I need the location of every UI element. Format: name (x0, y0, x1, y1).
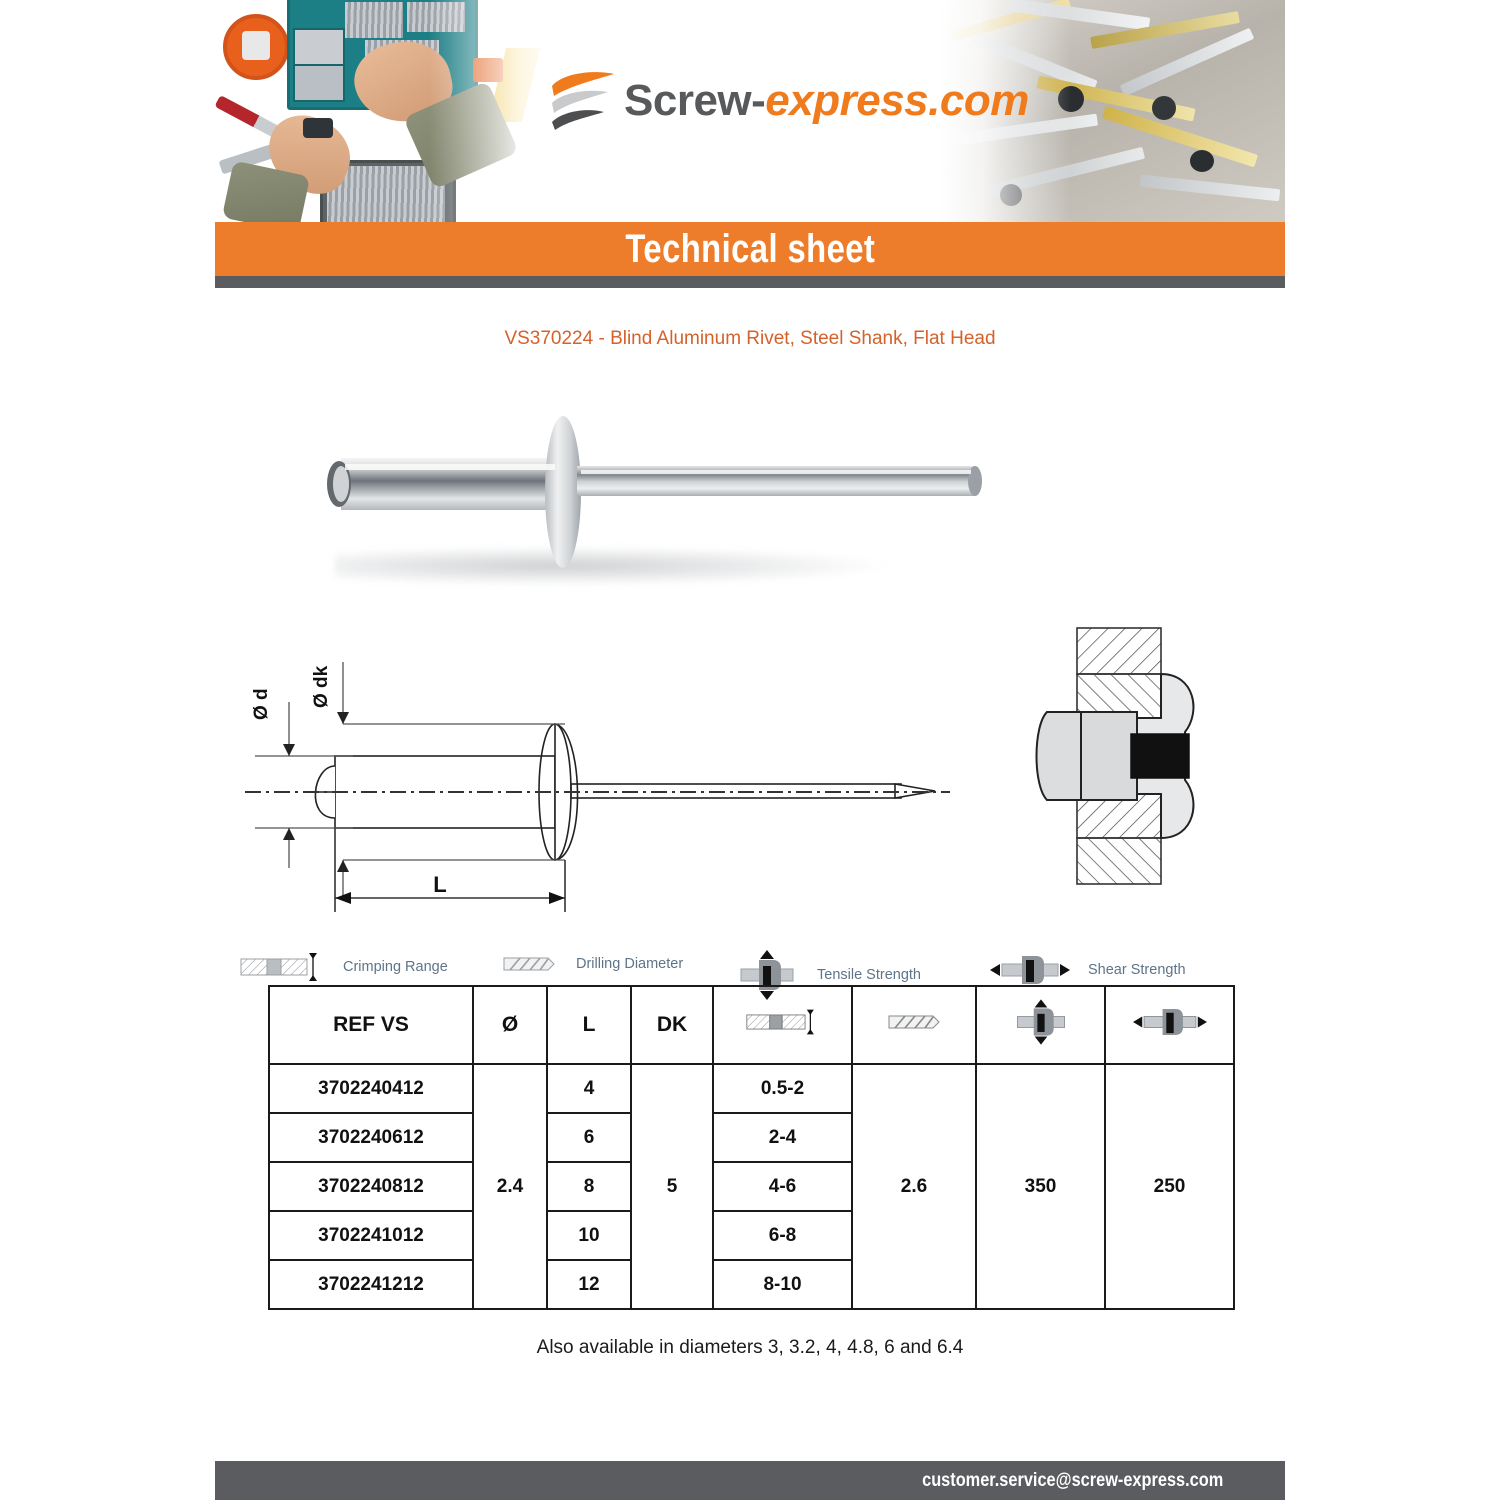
cell-ref: 3702241212 (269, 1260, 473, 1309)
col-header-drilling (852, 986, 976, 1064)
brand-logo: Screw-express.com (548, 70, 1029, 132)
cell-length: 10 (547, 1211, 631, 1260)
technical-sheet-page: Screw-express.com Technical sheet VS3702… (0, 0, 1500, 1500)
logo-swoosh-icon (548, 70, 618, 132)
footer-email[interactable]: customer.service@screw-express.com (922, 1470, 1285, 1492)
legend-label-drilling-diameter: Drilling Diameter (576, 956, 683, 972)
logo-text-accent: express.com (765, 76, 1029, 125)
cell-crimping: 6-8 (713, 1211, 852, 1260)
legend-label-crimping-range: Crimping Range (343, 959, 448, 975)
product-title: VS370224 - Blind Aluminum Rivet, Steel S… (215, 328, 1285, 350)
blind-rivet-image (305, 414, 1065, 574)
rivet-section-drawing (1035, 616, 1265, 896)
cell-diameter: 2.4 (473, 1064, 547, 1309)
label-length-l: L (433, 872, 446, 897)
table-row: 3702240412 2.4 4 5 0.5-2 2.6 350 250 (269, 1064, 1234, 1113)
label-diameter-d: Ø d (251, 688, 272, 720)
legend-label-tensile-strength: Tensile Strength (817, 967, 921, 983)
label-diameter-dk: Ø dk (311, 665, 332, 708)
drilling-diameter-icon (500, 950, 558, 978)
cell-length: 12 (547, 1260, 631, 1309)
cell-shear: 250 (1105, 1064, 1234, 1309)
legend-item-shear-strength: Shear Strength (990, 950, 1186, 990)
cell-drilling: 2.6 (852, 1064, 976, 1309)
cell-length: 8 (547, 1162, 631, 1211)
workshop-photo (215, 0, 560, 222)
tensile-strength-icon (1012, 998, 1070, 1046)
cell-dk: 5 (631, 1064, 713, 1309)
col-header-dk: DK (631, 986, 713, 1064)
logo-wordmark: Screw-express.com (624, 76, 1029, 126)
cell-length: 6 (547, 1113, 631, 1162)
logo-text-primary: Screw- (624, 76, 765, 125)
product-photo (215, 366, 1285, 616)
sheet-content: Screw-express.com Technical sheet VS3702… (215, 0, 1285, 1500)
page-footer: customer.service@screw-express.com (215, 1461, 1285, 1500)
cell-crimping: 8-10 (713, 1260, 852, 1309)
crimping-range-icon (740, 1007, 826, 1037)
col-header-ref: REF VS (269, 986, 473, 1064)
cell-crimping: 0.5-2 (713, 1064, 852, 1113)
col-header-shear (1105, 986, 1234, 1064)
col-header-crimping (713, 986, 852, 1064)
cell-tensile: 350 (976, 1064, 1105, 1309)
banner-gray-strip (215, 276, 1285, 288)
cell-ref: 3702240812 (269, 1162, 473, 1211)
spec-table-wrap: REF VS Ø L DK (268, 985, 1218, 1310)
rivet-dimension-drawing: Ø d Ø dk L (235, 616, 995, 926)
legend-item-drilling-diameter: Drilling Diameter (500, 950, 683, 978)
legend-label-shear-strength: Shear Strength (1088, 962, 1186, 978)
col-header-length: L (547, 986, 631, 1064)
technical-sheet-banner: Technical sheet (215, 222, 1285, 276)
cell-ref: 3702241012 (269, 1211, 473, 1260)
cell-ref: 3702240612 (269, 1113, 473, 1162)
col-header-diameter: Ø (473, 986, 547, 1064)
shear-strength-icon (990, 950, 1070, 990)
col-header-tensile (976, 986, 1105, 1064)
legend-item-crimping-range: Crimping Range (239, 950, 448, 984)
spec-table: REF VS Ø L DK (268, 985, 1235, 1310)
availability-note: Also available in diameters 3, 3.2, 4, 4… (215, 1337, 1285, 1359)
cell-ref: 3702240412 (269, 1064, 473, 1113)
crimping-range-icon (239, 950, 325, 984)
technical-drawings: Ø d Ø dk L (215, 616, 1285, 936)
banner-title: Technical sheet (625, 227, 875, 272)
cell-crimping: 4-6 (713, 1162, 852, 1211)
shear-strength-icon (1133, 1003, 1207, 1041)
drilling-diameter-icon (885, 1008, 943, 1036)
cell-length: 4 (547, 1064, 631, 1113)
cell-crimping: 2-4 (713, 1113, 852, 1162)
table-header-row: REF VS Ø L DK (269, 986, 1234, 1064)
